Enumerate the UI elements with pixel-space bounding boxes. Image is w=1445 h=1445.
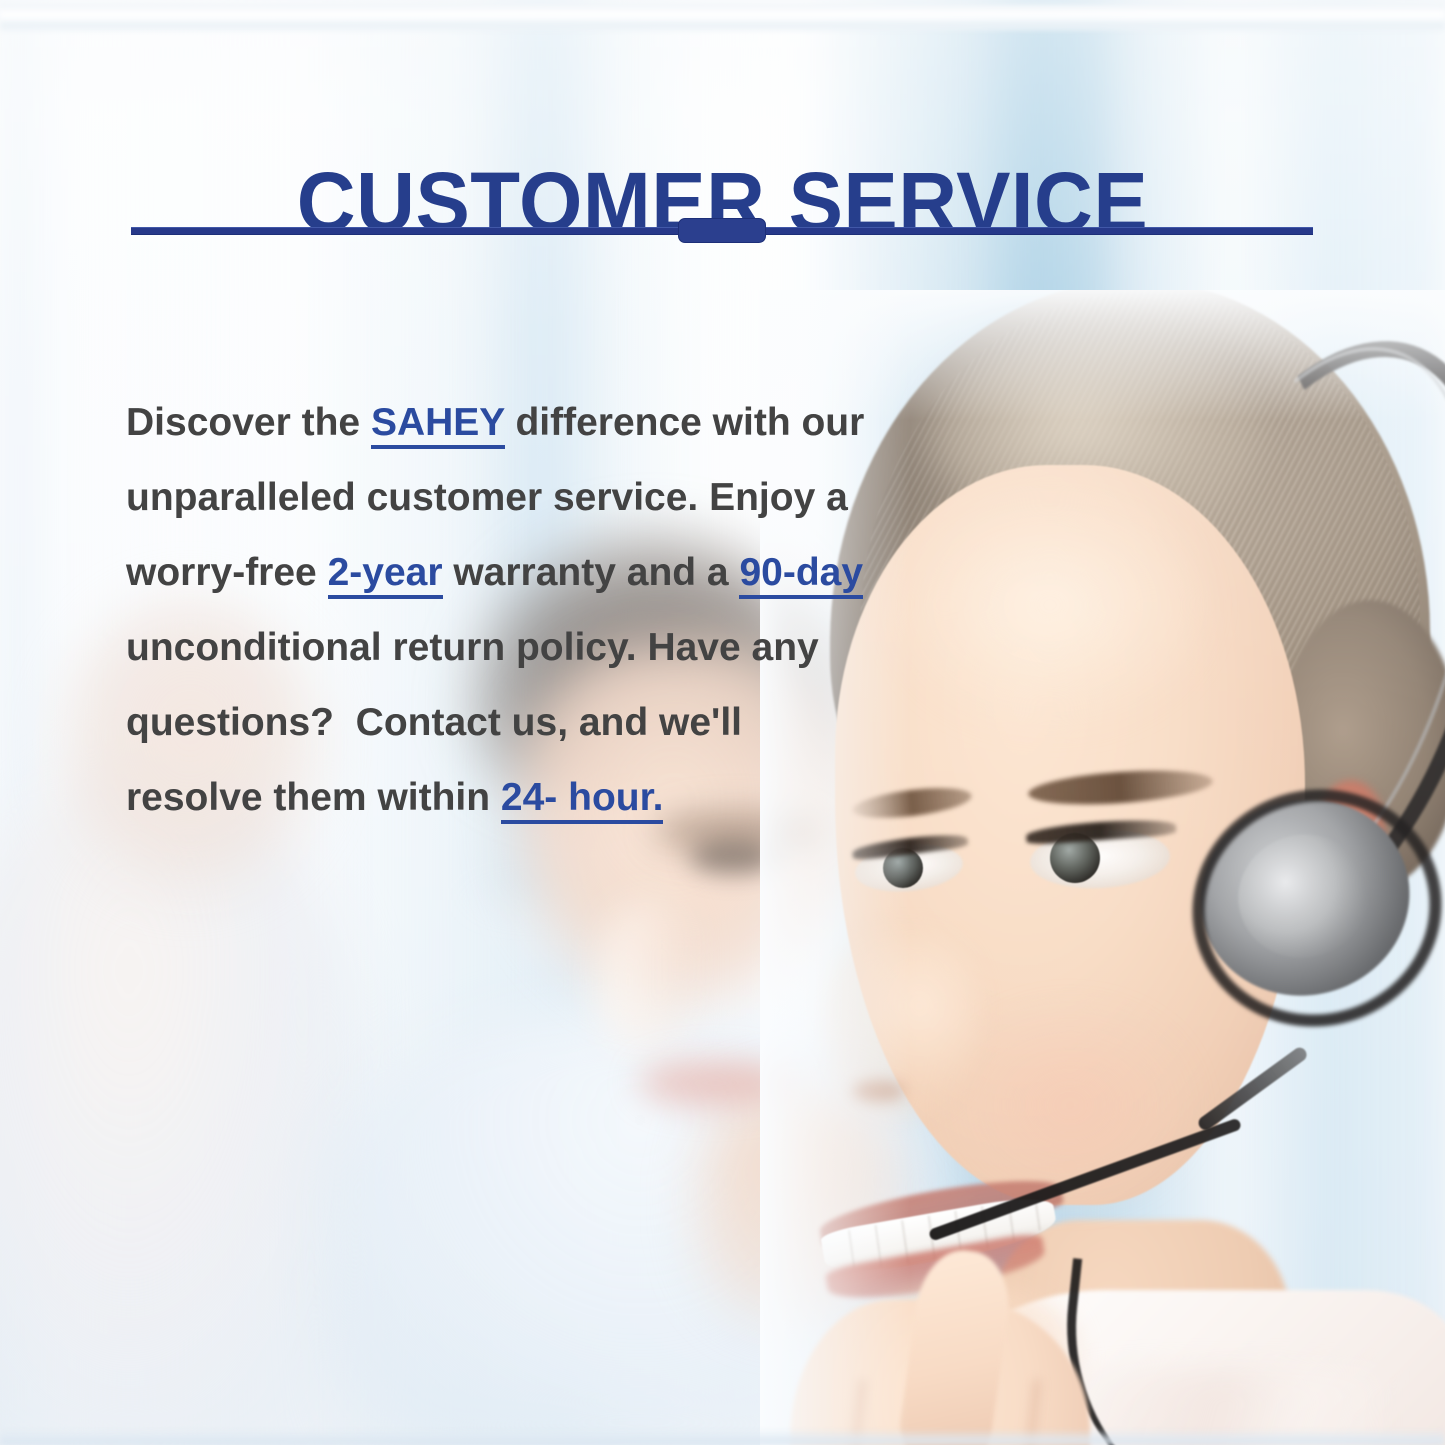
- title-divider: [131, 225, 1313, 234]
- body-segment-1: Discover the: [126, 401, 371, 444]
- body-copy: Discover the SAHEY difference with our u…: [126, 385, 866, 835]
- blurred-colleague-middle-nose: [600, 900, 690, 1050]
- agent-nostril: [852, 1080, 904, 1102]
- highlight-return-window: 90-day: [739, 551, 863, 599]
- body-segment-3: warranty and a: [443, 551, 740, 594]
- highlight-brand-name: SAHEY: [371, 401, 505, 449]
- agent-cheek: [950, 1010, 1190, 1200]
- background-top-rail-shadow: [0, 22, 1445, 30]
- background-bottom-rail: [0, 1429, 1445, 1445]
- customer-service-banner: CUSTOMER SERVICE Discover the SAHEY diff…: [0, 0, 1445, 1445]
- highlight-response-time: 24- hour.: [501, 776, 664, 824]
- divider-center-knob: [678, 218, 766, 243]
- highlight-warranty-term: 2-year: [328, 551, 443, 599]
